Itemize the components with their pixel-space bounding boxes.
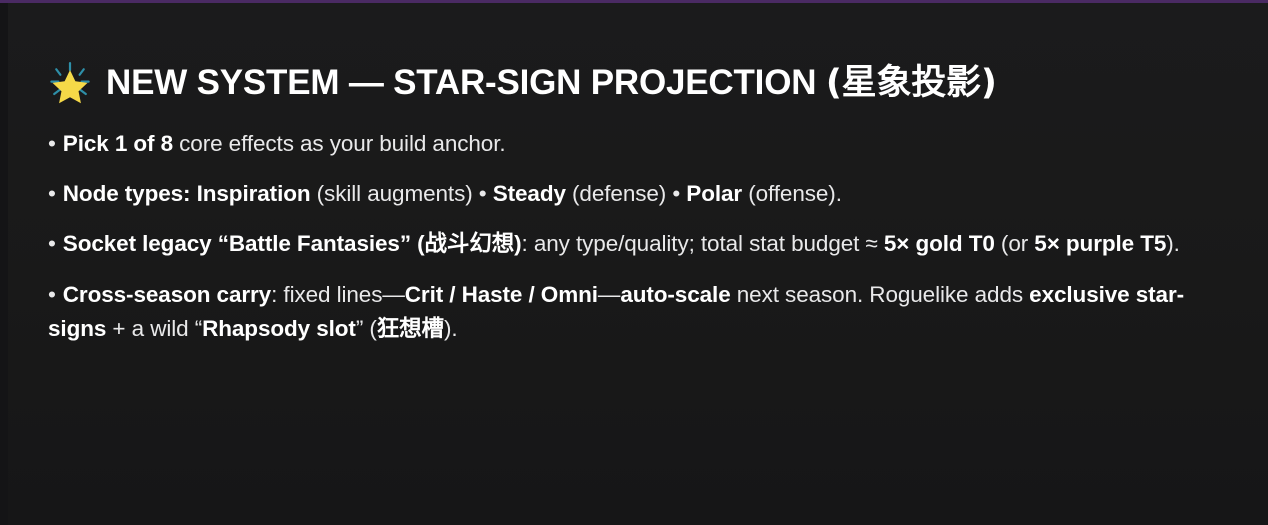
bullet-marker: • — [48, 231, 56, 256]
bullet-text: (offense). — [742, 181, 842, 206]
page-title-row: NEW SYSTEM — STAR-SIGN PROJECTION (星象投影) — [48, 61, 1238, 105]
bullet-text: + a wild “ — [106, 316, 202, 341]
bullet-text: next season. Roguelike adds — [731, 282, 1030, 307]
bullet-marker: • — [48, 181, 56, 206]
bullet-text: (defense) • — [566, 181, 686, 206]
content-panel: NEW SYSTEM — STAR-SIGN PROJECTION (星象投影)… — [8, 3, 1268, 525]
bullet-text: ). — [444, 316, 458, 341]
bullet-text: ). — [1166, 231, 1180, 256]
bullet-emphasis: Node types: Inspiration — [63, 181, 311, 206]
bullet-emphasis: Steady — [493, 181, 566, 206]
bullet-emphasis: 狂想槽 — [377, 316, 444, 342]
page-title: NEW SYSTEM — STAR-SIGN PROJECTION (星象投影) — [106, 64, 997, 103]
bullet-emphasis: Cross-season carry — [63, 282, 271, 307]
page-title-cjk: (星象投影) — [826, 63, 997, 103]
bullet-text: core effects as your build anchor. — [173, 131, 506, 156]
bullet-text: : any type/quality; total stat budget ≈ — [522, 231, 884, 256]
bullet-marker: • — [48, 131, 56, 156]
bullet-emphasis: 1 of 8 — [115, 131, 173, 156]
bullet-node-types: •Node types: Inspiration (skill augments… — [48, 177, 1238, 211]
content-body: NEW SYSTEM — STAR-SIGN PROJECTION (星象投影)… — [8, 3, 1268, 525]
bullet-emphasis: Crit / Haste / Omni — [405, 282, 598, 307]
bullet-emphasis: ) — [514, 231, 521, 256]
bullet-socket-legacy: •Socket legacy “Battle Fantasies” (战斗幻想)… — [48, 227, 1238, 261]
bullet-text: (or — [995, 231, 1035, 256]
bullet-emphasis: Socket legacy “Battle Fantasies” ( — [63, 231, 425, 256]
bullet-emphasis: auto-scale — [620, 282, 730, 307]
bullet-emphasis: Polar — [686, 181, 742, 206]
bullet-text: (skill augments) • — [311, 181, 493, 206]
bullet-text: ” ( — [356, 316, 377, 341]
bullet-core-effects: •Pick 1 of 8 core effects as your build … — [48, 127, 1238, 161]
bullet-text: — — [598, 282, 620, 307]
screen-root: NEW SYSTEM — STAR-SIGN PROJECTION (星象投影)… — [0, 0, 1268, 525]
bullet-emphasis: 5× purple T5 — [1034, 231, 1166, 256]
bullet-text: : fixed lines— — [271, 282, 405, 307]
bullet-cross-season-carry: •Cross-season carry: fixed lines—Crit / … — [48, 278, 1238, 346]
bullet-emphasis: Rhapsody slot — [202, 316, 356, 341]
page-title-en: NEW SYSTEM — STAR-SIGN PROJECTION — [106, 63, 816, 102]
glowing-star-icon — [48, 61, 92, 105]
bullet-emphasis: 战斗幻想 — [425, 231, 515, 257]
bullet-emphasis: Pick — [63, 131, 115, 156]
left-gutter-strip — [0, 3, 8, 525]
bullet-marker: • — [48, 282, 56, 307]
bullet-emphasis: 5× gold T0 — [884, 231, 995, 256]
